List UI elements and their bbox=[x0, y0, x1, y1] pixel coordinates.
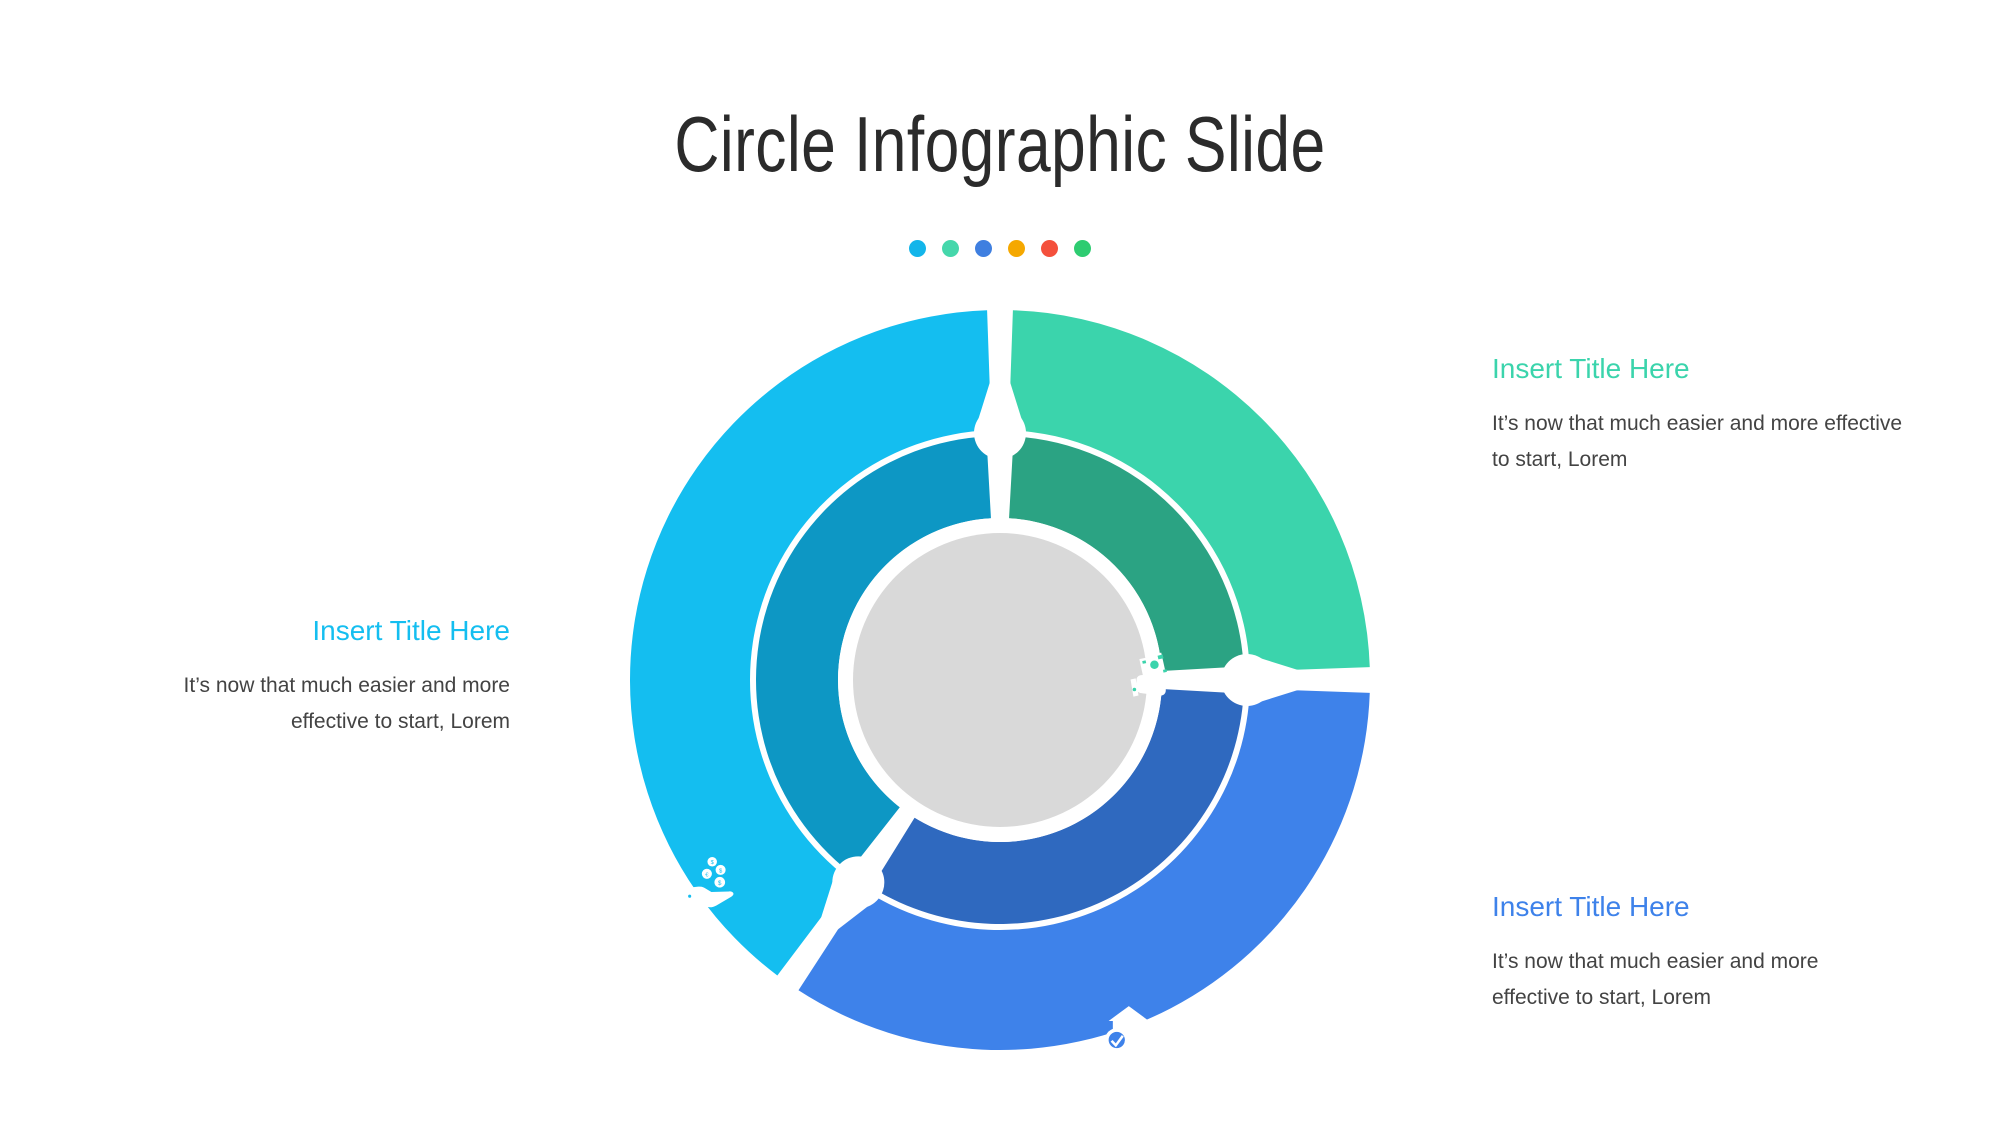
dot-amber-icon bbox=[1008, 240, 1025, 257]
text-block-left-body: It’s now that much easier and more effec… bbox=[60, 668, 510, 740]
text-block-right-bottom-body: It’s now that much easier and more effec… bbox=[1492, 944, 1962, 1016]
svg-text:$: $ bbox=[718, 880, 722, 887]
text-block-left: Insert Title Here It’s now that much eas… bbox=[60, 614, 510, 740]
title-block: Circle Infographic Slide bbox=[0, 104, 2000, 186]
text-block-right-top: Insert Title Here It’s now that much eas… bbox=[1492, 352, 1962, 478]
dot-cyan-icon bbox=[909, 240, 926, 257]
text-block-right-bottom-body-line-2: effective to start, Lorem bbox=[1492, 980, 1962, 1016]
text-block-right-bottom: Insert Title Here It’s now that much eas… bbox=[1492, 890, 1962, 1016]
dot-blue-icon bbox=[975, 240, 992, 257]
circle-infographic-chart: $ $ € $ bbox=[625, 297, 1385, 1063]
dot-red-icon bbox=[1041, 240, 1058, 257]
page-title: Circle Infographic Slide bbox=[200, 104, 1800, 186]
text-block-left-body-line-1: It’s now that much easier and more bbox=[60, 668, 510, 704]
text-block-left-title: Insert Title Here bbox=[60, 614, 510, 648]
dot-teal-icon bbox=[942, 240, 959, 257]
text-block-right-bottom-body-line-1: It’s now that much easier and more bbox=[1492, 944, 1962, 980]
text-block-right-top-body: It’s now that much easier and more effec… bbox=[1492, 406, 1962, 478]
accent-dot-row bbox=[0, 240, 2000, 257]
dot-green-icon bbox=[1074, 240, 1091, 257]
text-block-right-top-title: Insert Title Here bbox=[1492, 352, 1962, 386]
text-block-right-top-body-line-1: It’s now that much easier and more effec… bbox=[1492, 406, 1962, 442]
slide-canvas: Circle Infographic Slide bbox=[0, 0, 2000, 1125]
donut-svg: $ $ € $ bbox=[625, 297, 1385, 1063]
text-block-right-top-body-line-2: to start, Lorem bbox=[1492, 442, 1962, 478]
text-block-left-body-line-2: effective to start, Lorem bbox=[60, 704, 510, 740]
text-block-right-bottom-title: Insert Title Here bbox=[1492, 890, 1962, 924]
center-hub bbox=[853, 533, 1147, 827]
